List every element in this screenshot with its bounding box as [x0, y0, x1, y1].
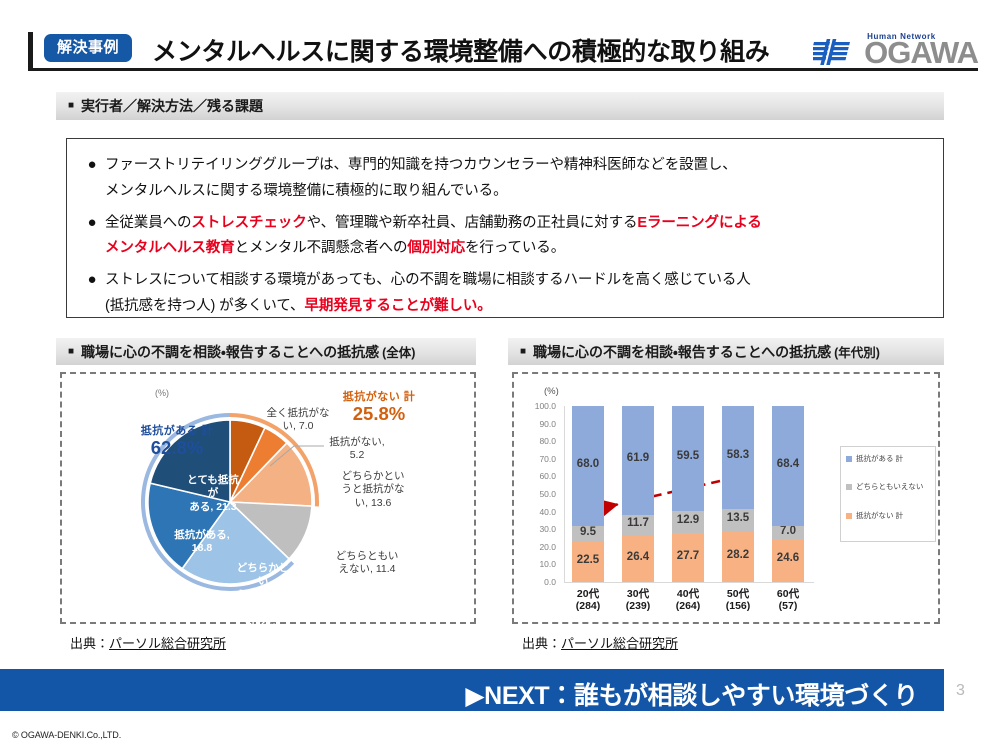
legend-label: どちらともいえない — [856, 483, 923, 491]
pie-annotation-no-resistance: 抵抗がない 計25.8% — [320, 388, 438, 423]
bar-y-tick-label: 50.0 — [528, 489, 556, 499]
pie-chart: (%) 全く抵抗がない, 7.0抵抗がない,5.2どちらかというと抵抗がない, … — [62, 374, 478, 626]
bar-category-count: (156) — [713, 600, 763, 612]
bar-value-label: 11.7 — [615, 517, 661, 529]
bar-category-name: 60代 — [763, 588, 813, 600]
bar-category-count: (239) — [613, 600, 663, 612]
bullet-dot-icon: ● — [79, 211, 105, 263]
right-chart-heading-sub: (年代別) — [834, 342, 880, 361]
section-heading-left-chart: ■ 職場に心の不調を相談・報告することへの抵抗感 (全体) — [56, 338, 476, 365]
bar-value-label: 13.5 — [715, 512, 761, 524]
pie-data-label-line: 18.8 — [172, 542, 232, 555]
bar-y-tick-label: 100.0 — [528, 401, 556, 411]
pie-data-label: どちらともいえない, 11.4 — [334, 550, 400, 577]
header-badge: 解決事例 — [44, 34, 132, 62]
bullet-text: ファーストリテイリンググループは、専門的知識を持つカウンセラーや精神科医師などを… — [105, 153, 737, 205]
header-accent-bar — [28, 32, 33, 70]
pie-data-label-line: 抵抗がある, — [172, 529, 232, 542]
pie-data-label-line: うと抵抗がな — [340, 483, 406, 496]
footer-next-text: ▶NEXT：誰もが相談しやすい環境づくり — [465, 676, 918, 712]
bar-y-tick-label: 20.0 — [528, 542, 556, 552]
bar-value-label: 9.5 — [565, 526, 611, 538]
page-number: 3 — [956, 682, 965, 700]
bar-category-label: 50代(156) — [713, 588, 763, 613]
pie-annotation-label: 抵抗がない 計 — [320, 388, 438, 404]
legend-swatch — [846, 513, 852, 519]
pie-annotation-resistance: 抵抗がある 計62.8% — [118, 422, 236, 457]
bullet-line: メンタルヘルスに関する環境整備に積極的に取り組んでいる。 — [105, 179, 737, 205]
header-divider — [28, 68, 978, 71]
bar-y-tick-label: 70.0 — [528, 454, 556, 464]
bullet-square-icon: ■ — [68, 347, 74, 357]
bullet-highlight: ストレスチェック — [191, 215, 306, 231]
bullet-plain: ストレスについて相談する環境があっても、心の不調を職場に相談するハードルを高く感… — [105, 272, 751, 288]
pie-data-label: 抵抗がある,18.8 — [172, 529, 232, 556]
pie-data-label-line: 5.2 — [326, 449, 388, 462]
bullet-dot-icon: ● — [79, 268, 105, 320]
bar-y-tick-label: 90.0 — [528, 419, 556, 429]
pie-data-label-line: どちらかとい — [340, 470, 406, 483]
bullet-plain: (抵抗感を持つ人) が多くいて、 — [105, 298, 304, 314]
pie-data-label-line: る, 22.7 — [232, 616, 294, 629]
bullet-plain: 全従業員への — [105, 215, 191, 231]
legend-item[interactable]: 抵抗がない 計 — [846, 512, 930, 520]
bar-value-label: 68.4 — [765, 458, 811, 470]
bar-category-label: 40代(264) — [663, 588, 713, 613]
right-chart-heading-label: 職場に心の不調を相談・報告することへの抵抗感 — [533, 342, 831, 362]
bullet-plain: ファーストリテイリンググループは、専門的知識を持つカウンセラーや精神科医師などを… — [105, 157, 737, 173]
bullet-text: 全従業員へのストレスチェックや、管理職や新卒社員、店舗勤務の正社員に対するEラー… — [105, 211, 762, 263]
slide: 解決事例 メンタルヘルスに関する環境整備への積極的な取り組み — [0, 0, 1000, 750]
bar-category-count: (264) — [663, 600, 713, 612]
bar-category-name: 40代 — [663, 588, 713, 600]
left-chart-heading-label: 職場に心の不調を相談・報告することへの抵抗感 — [81, 342, 379, 362]
legend-label: 抵抗がない 計 — [856, 512, 903, 520]
logo-text: Human Network OGAWA — [864, 32, 978, 68]
bullet-square-icon: ■ — [520, 347, 526, 357]
bullet-text: ストレスについて相談する環境があっても、心の不調を職場に相談するハードルを高く感… — [105, 268, 751, 320]
slide-header: 解決事例 メンタルヘルスに関する環境整備への積極的な取り組み — [0, 14, 1000, 72]
bullet-plain: を行っている。 — [465, 240, 565, 256]
bar-value-label: 26.4 — [615, 551, 661, 563]
bullet-item: ●全従業員へのストレスチェックや、管理職や新卒社員、店舗勤務の正社員に対するEラ… — [79, 211, 931, 263]
bar-y-tick-label: 60.0 — [528, 471, 556, 481]
bar-y-tick-label: 10.0 — [528, 559, 556, 569]
legend-swatch — [846, 456, 852, 462]
pie-data-label-line: どちらかとい — [232, 562, 294, 589]
bar-value-label: 28.2 — [715, 549, 761, 561]
bullet-plain: や、管理職や新卒社員、店舗勤務の正社員に対する — [307, 215, 638, 231]
bar-category-name: 30代 — [613, 588, 663, 600]
copyright-text: © OGAWA-DENKI.Co.,LTD. — [12, 730, 121, 740]
ogawa-logo: Human Network OGAWA — [813, 32, 978, 68]
pie-data-label: どちらかというと抵抗がない, 13.6 — [340, 470, 406, 510]
bar-y-tick-label: 80.0 — [528, 436, 556, 446]
bullet-plain: メンタルヘルスに関する環境整備に積極的に取り組んでいる。 — [105, 183, 507, 199]
bar-y-tick-label: 30.0 — [528, 524, 556, 534]
source-left-prefix: 出典： — [70, 636, 109, 651]
bar-unit-label: (%) — [544, 386, 559, 397]
pie-data-label-line: うと抵抗があ — [232, 589, 294, 616]
bar-chart-legend: 抵抗がある 計どちらともいえない抵抗がない 計 — [840, 446, 936, 542]
bullet-plain: とメンタル不調懸念者への — [235, 240, 408, 256]
bullet-highlight: メンタルヘルス教育 — [105, 240, 235, 256]
bar-y-tick-label: 40.0 — [528, 507, 556, 517]
pie-chart-panel: (%) 全く抵抗がない, 7.0抵抗がない,5.2どちらかというと抵抗がない, … — [60, 372, 476, 624]
source-left-name[interactable]: パーソル総合研究所 — [109, 636, 226, 651]
left-chart-heading-sub: (全体) — [382, 342, 415, 361]
source-right: 出典：パーソル総合研究所 — [522, 633, 678, 652]
bullet-line: メンタルヘルス教育とメンタル不調懸念者への個別対応を行っている。 — [105, 236, 762, 262]
pie-data-label-line: えない, 11.4 — [334, 563, 400, 576]
bullet-highlight: Eラーニングによる — [637, 215, 761, 231]
pie-annotation-value: 25.8% — [320, 404, 438, 423]
bar-category-count: (284) — [563, 600, 613, 612]
pie-data-label-line: とても抵抗が — [182, 474, 244, 501]
bar-category-label: 30代(239) — [613, 588, 663, 613]
legend-item[interactable]: 抵抗がある 計 — [846, 455, 930, 463]
bar-value-label: 24.6 — [765, 552, 811, 564]
section-heading-main-label: 実行者／解決方法／残る課題 — [81, 96, 263, 116]
bullet-item: ●ストレスについて相談する環境があっても、心の不調を職場に相談するハードルを高く… — [79, 268, 931, 320]
legend-item[interactable]: どちらともいえない — [846, 483, 930, 491]
pie-data-label: とても抵抗がある, 21.3 — [182, 474, 244, 514]
bullet-square-icon: ■ — [68, 101, 74, 111]
logo-wordmark: OGAWA — [864, 39, 978, 68]
bullet-list-box: ●ファーストリテイリンググループは、専門的知識を持つカウンセラーや精神科医師など… — [66, 138, 944, 318]
bar-y-tick-label: 0.0 — [528, 577, 556, 587]
bullet-line: (抵抗感を持つ人) が多くいて、早期発見することが難しい。 — [105, 294, 751, 320]
section-heading-right-chart: ■ 職場に心の不調を相談・報告することへの抵抗感 (年代別) — [508, 338, 944, 365]
bar-x-axis — [564, 582, 814, 583]
pie-data-label: 抵抗がない,5.2 — [326, 436, 388, 463]
legend-swatch — [846, 484, 852, 490]
bullet-line: ファーストリテイリンググループは、専門的知識を持つカウンセラーや精神科医師などを… — [105, 153, 737, 179]
bar-chart-panel: (%) 抵抗がある 計どちらともいえない抵抗がない 計 0.010.020.03… — [512, 372, 940, 624]
bullet-highlight: 早期発見することが難しい。 — [304, 298, 491, 314]
bar-value-label: 22.5 — [565, 554, 611, 566]
pie-data-label-line: 抵抗がない, — [326, 436, 388, 449]
pie-data-label-line: い, 13.6 — [340, 497, 406, 510]
bar-value-label: 68.0 — [565, 458, 611, 470]
bar-category-label: 60代(57) — [763, 588, 813, 613]
pie-data-label-line: ある, 21.3 — [182, 501, 244, 514]
bar-category-name: 20代 — [563, 588, 613, 600]
pie-annotation-value: 62.8% — [118, 438, 236, 457]
source-right-name[interactable]: パーソル総合研究所 — [561, 636, 678, 651]
bar-value-label: 58.3 — [715, 449, 761, 461]
bar-category-label: 20代(284) — [563, 588, 613, 613]
bullet-item: ●ファーストリテイリンググループは、専門的知識を持つカウンセラーや精神科医師など… — [79, 153, 931, 205]
section-heading-main: ■ 実行者／解決方法／残る課題 — [56, 92, 944, 120]
bullet-dot-icon: ● — [79, 153, 105, 205]
bar-value-label: 59.5 — [665, 450, 711, 462]
pie-data-label-line: どちらともい — [334, 550, 400, 563]
logo-hash-icon — [813, 38, 857, 68]
pie-annotation-label: 抵抗がある 計 — [118, 422, 236, 438]
bar-category-name: 50代 — [713, 588, 763, 600]
bar-value-label: 12.9 — [665, 514, 711, 526]
source-left: 出典：パーソル総合研究所 — [70, 633, 226, 652]
legend-label: 抵抗がある 計 — [856, 455, 903, 463]
source-right-prefix: 出典： — [522, 636, 561, 651]
page-title: メンタルヘルスに関する環境整備への積極的な取り組み — [152, 32, 770, 68]
bullet-line: 全従業員へのストレスチェックや、管理職や新卒社員、店舗勤務の正社員に対するEラー… — [105, 211, 762, 237]
bar-category-count: (57) — [763, 600, 813, 612]
stacked-bar-chart: (%) 抵抗がある 計どちらともいえない抵抗がない 計 0.010.020.03… — [514, 374, 942, 626]
bar-value-label: 61.9 — [615, 452, 661, 464]
pie-data-label: どちらかというと抵抗がある, 22.7 — [232, 562, 294, 629]
bullet-highlight: 個別対応 — [407, 240, 465, 256]
bullet-line: ストレスについて相談する環境があっても、心の不調を職場に相談するハードルを高く感… — [105, 268, 751, 294]
bar-value-label: 27.7 — [665, 550, 711, 562]
